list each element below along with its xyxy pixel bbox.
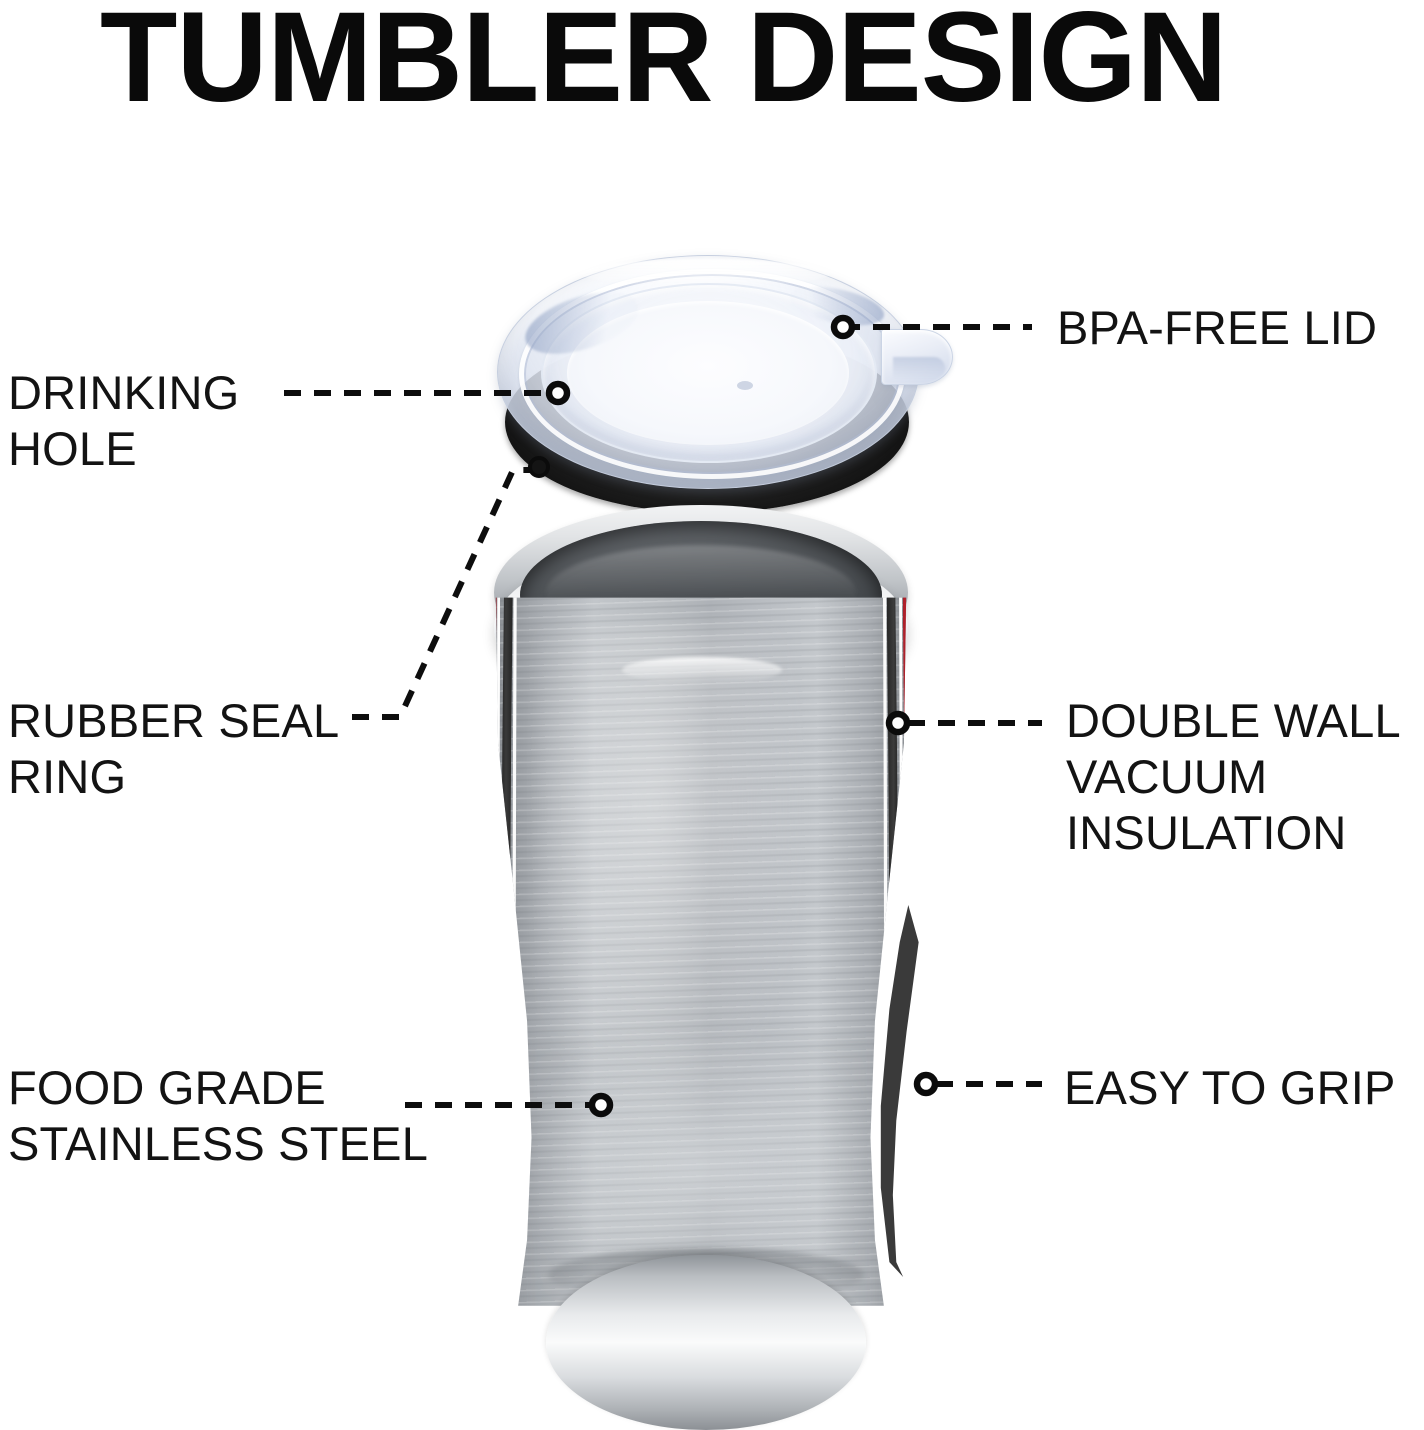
drinking-hole-part [737, 381, 753, 390]
diagram-canvas: TUMBLER DESIGN [0, 0, 1424, 1369]
stripe-red-left [482, 583, 496, 1313]
callout-label-rubber-seal-ring: RUBBER SEAL RING [8, 693, 339, 805]
callout-label-easy-to-grip: EASY TO GRIP [1064, 1060, 1396, 1116]
stripe-white-left [496, 583, 500, 1313]
tumbler-lid [489, 253, 951, 531]
cup-base-band [546, 1255, 866, 1430]
cup-body [478, 583, 924, 1313]
cup-rim-front-highlight [622, 657, 782, 683]
lid-top-highlight [581, 259, 831, 287]
lid-tab-shadow [893, 357, 945, 379]
callout-label-double-wall-vacuum-insulation: DOUBLE WALL VACUUM INSULATION [1066, 693, 1401, 861]
callout-label-food-grade-stainless-steel: FOOD GRADE STAINLESS STEEL [8, 1060, 428, 1172]
callout-label-drinking-hole: DRINKING HOLE [8, 365, 239, 477]
callout-label-bpa-free-lid: BPA-FREE LID [1057, 300, 1377, 356]
tumbler-cup [472, 505, 936, 1369]
